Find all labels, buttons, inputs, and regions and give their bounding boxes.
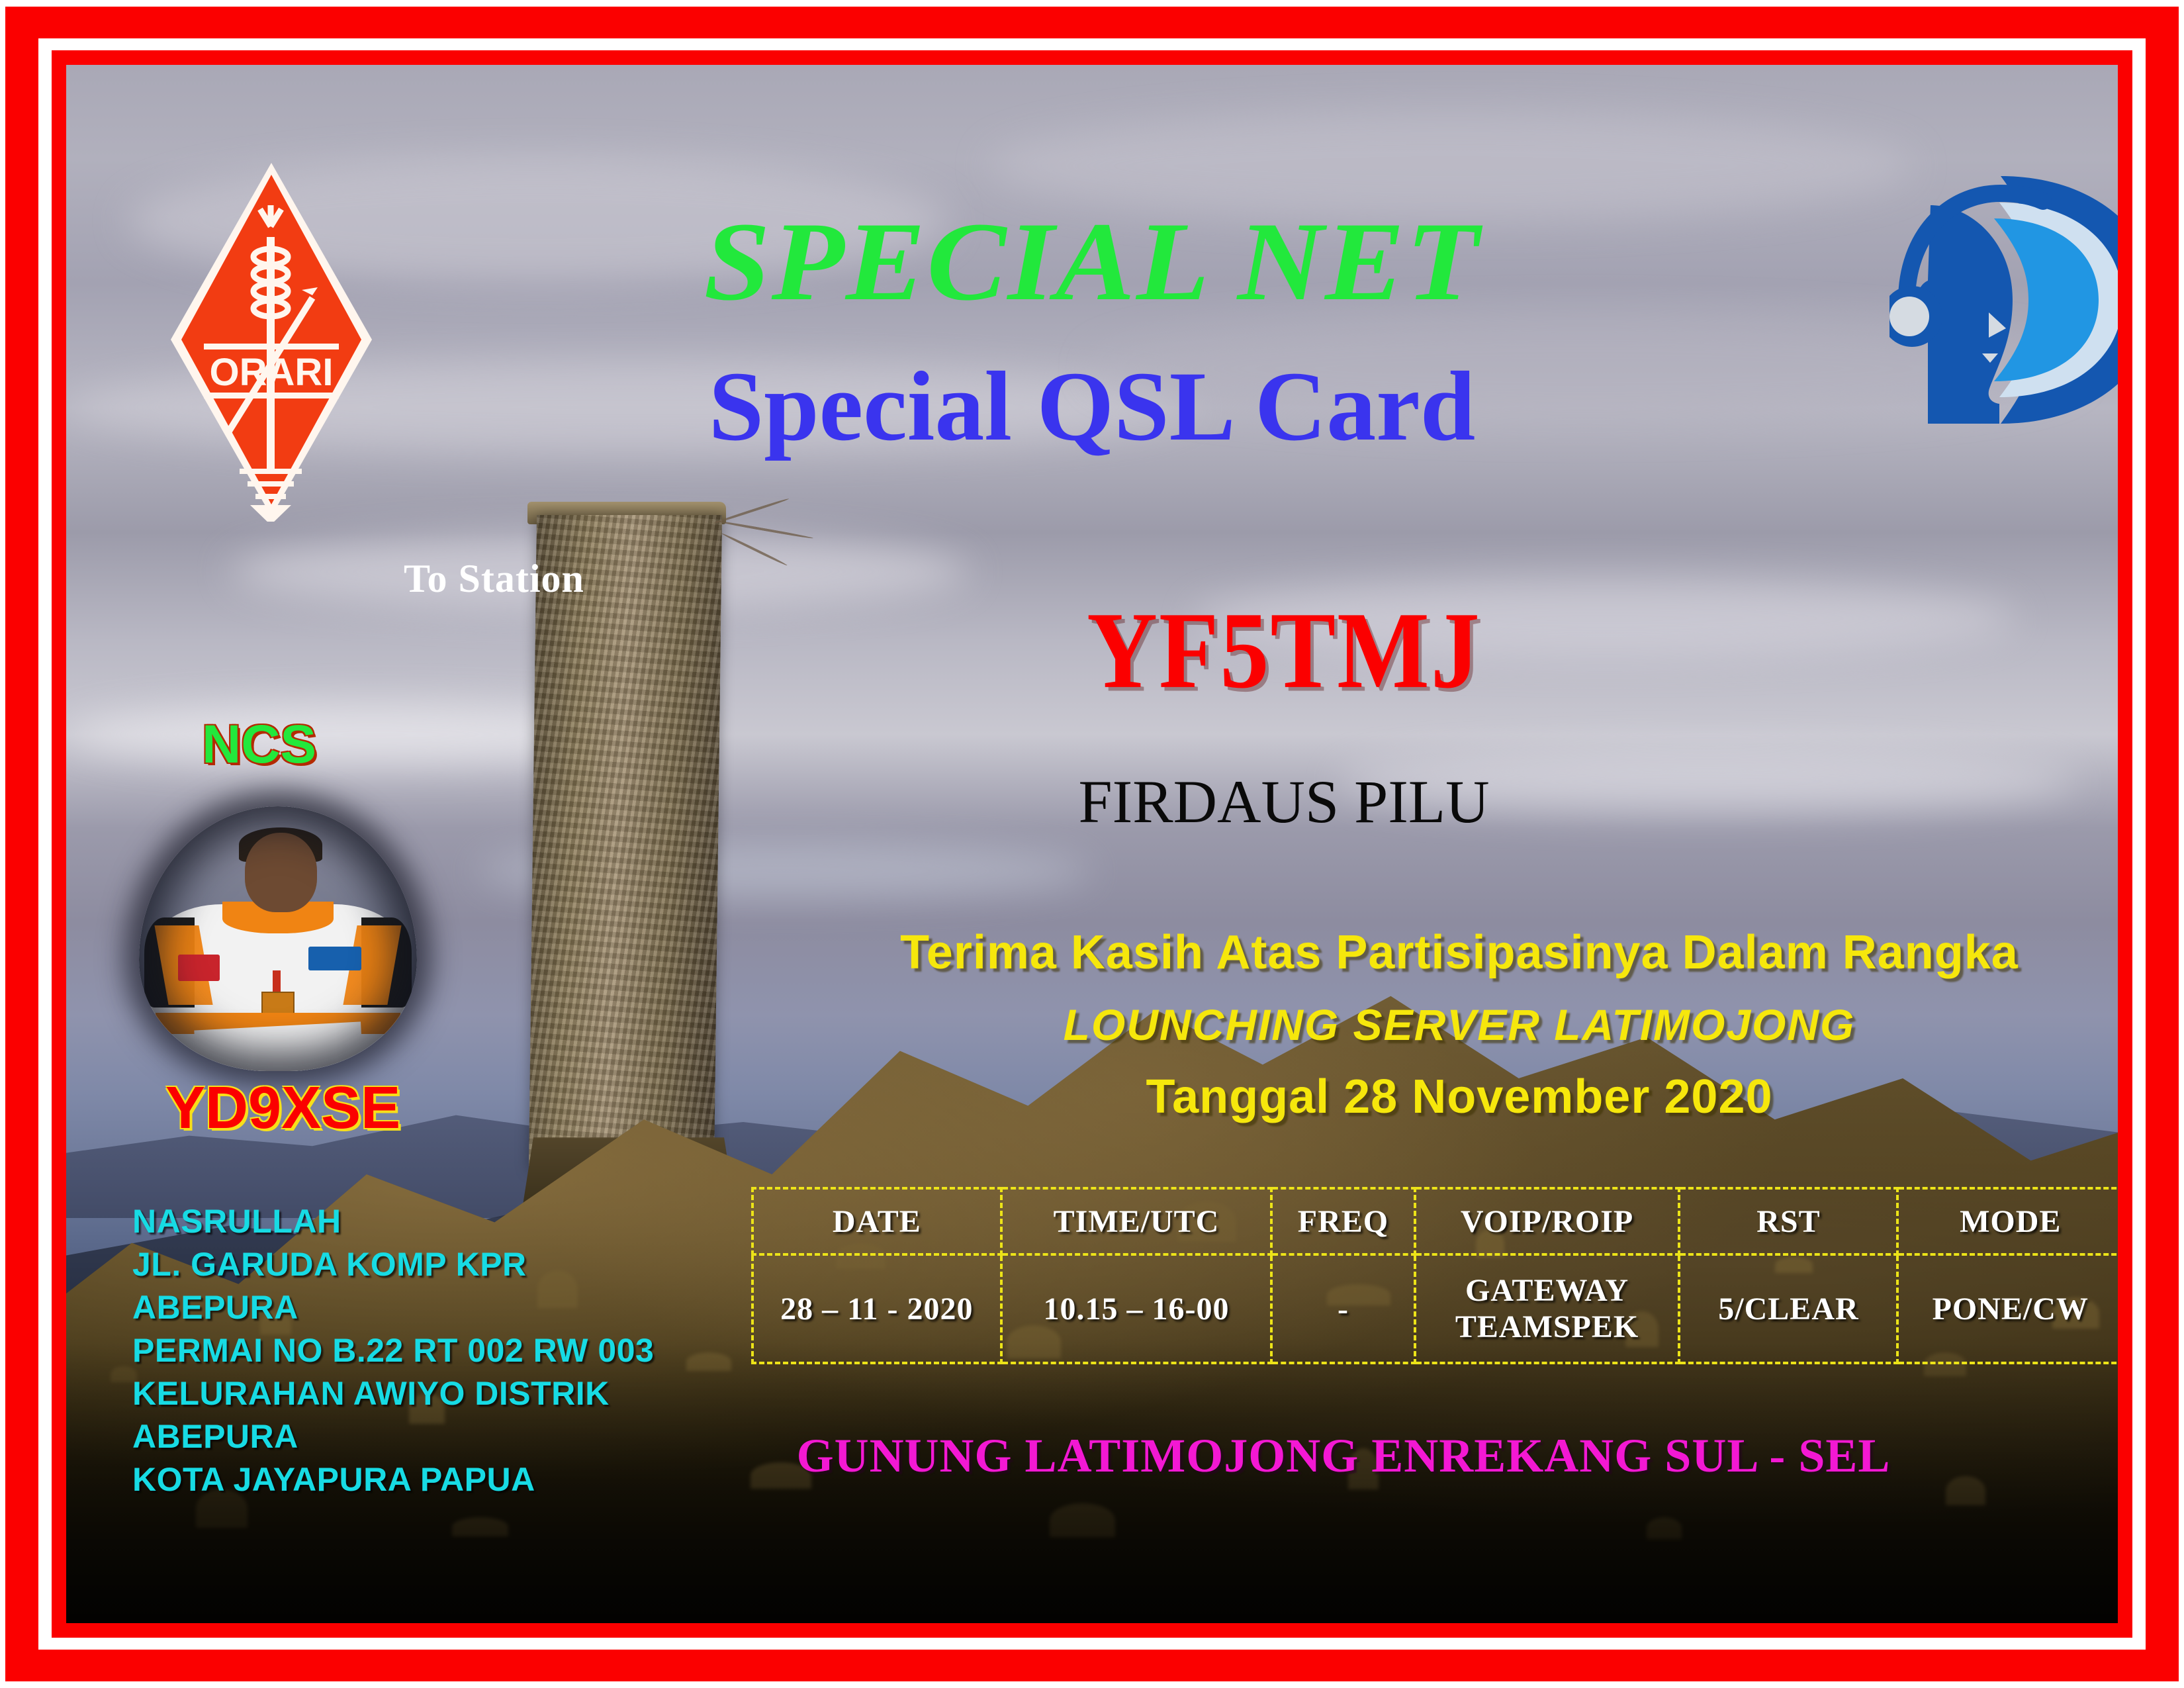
ncs-address-block: NASRULLAH JL. GARUDA KOMP KPR ABEPURA PE… [132,1200,702,1501]
cell-time: 10.15 – 16-00 [1001,1254,1272,1363]
operator-portrait-photo [139,806,417,1071]
address-line: NASRULLAH [132,1200,702,1243]
stone-monument-pillar [529,515,722,1170]
address-line: ABEPURA [132,1415,702,1458]
page-title-special-net: SPECIAL NET [66,197,2118,326]
address-line: ABEPURA [132,1286,702,1329]
ncs-label: NCS [202,714,316,776]
cell-date: 28 – 11 - 2020 [752,1254,1001,1363]
event-text-block: Terima Kasih Atas Partisipasinya Dalam R… [814,925,2105,1124]
event-thanks-line: Terima Kasih Atas Partisipasinya Dalam R… [814,925,2105,980]
to-station-label: To Station [404,556,584,602]
address-line: PERMAI NO B.22 RT 002 RW 003 [132,1329,702,1372]
column-header-rst: RST [1679,1188,1897,1254]
cell-rst: 5/CLEAR [1679,1254,1897,1363]
cell-voip: GATEWAYTEAMSPEK [1415,1254,1680,1363]
cell-freq: - [1271,1254,1414,1363]
column-header-freq: FREQ [1271,1188,1414,1254]
callsign-text: YF5TMJ [946,588,1621,714]
address-line: KOTA JAYAPURA PAPUA [132,1458,702,1501]
table-row: 28 – 11 - 2020 10.15 – 16-00 - GATEWAYTE… [752,1254,2118,1363]
page-subtitle-qsl-card: Special QSL Card [66,350,2118,463]
event-date-line: Tanggal 28 November 2020 [814,1070,2105,1124]
operator-name: FIRDAUS PILU [946,767,1621,837]
cell-mode: PONE/CW [1897,1254,2118,1363]
column-header-voip: VOIP/ROIP [1415,1188,1680,1254]
location-caption: GUNUNG LATIMOJONG ENREKANG SUL - SEL [715,1429,1972,1483]
address-line: KELURAHAN AWIYO DISTRIK [132,1372,702,1415]
background-photograph: ORARI [66,65,2118,1623]
column-header-date: DATE [752,1188,1001,1254]
qso-log-table: DATE TIME/UTC FREQ VOIP/ROIP RST MODE 28… [751,1187,2118,1364]
table-header-row: DATE TIME/UTC FREQ VOIP/ROIP RST MODE [752,1188,2118,1254]
qsl-card: ORARI [0,0,2184,1688]
column-header-time: TIME/UTC [1001,1188,1272,1254]
event-title-line: LOUNCHING SERVER LATIMOJONG [814,1000,2105,1050]
column-header-mode: MODE [1897,1188,2118,1254]
ncs-callsign: YD9XSE [165,1074,400,1143]
address-line: JL. GARUDA KOMP KPR [132,1243,702,1286]
